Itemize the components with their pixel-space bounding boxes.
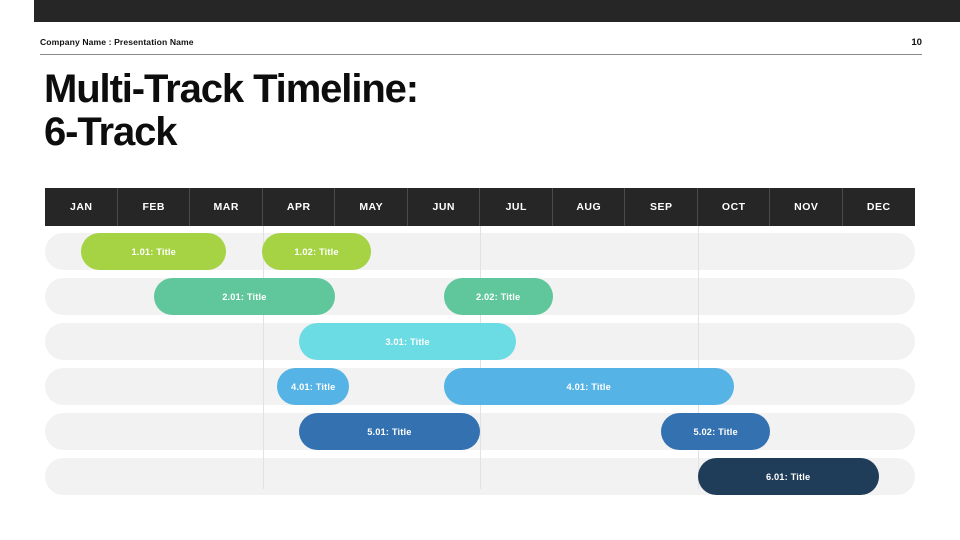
- month-cell-oct: OCT: [698, 188, 771, 226]
- month-cell-mar: MAR: [190, 188, 263, 226]
- timeline-bar-label: 1.02: Title: [294, 247, 338, 257]
- timeline-bar-label: 2.01: Title: [222, 292, 266, 302]
- timeline-bar-4-1[interactable]: 4.01: Title: [277, 368, 349, 405]
- timeline-bar-5-1[interactable]: 5.01: Title: [299, 413, 480, 450]
- timeline-bar-4-2[interactable]: 4.01: Title: [444, 368, 734, 405]
- header-company-presentation: Company Name : Presentation Name: [40, 37, 194, 47]
- month-cell-nov: NOV: [770, 188, 843, 226]
- month-cell-dec: DEC: [843, 188, 916, 226]
- month-cell-feb: FEB: [118, 188, 191, 226]
- page-title: Multi-Track Timeline: 6-Track: [44, 68, 664, 154]
- timeline-bar-label: 1.01: Title: [132, 247, 176, 257]
- month-header-row: JANFEBMARAPRMAYJUNJULAUGSEPOCTNOVDEC: [45, 188, 915, 226]
- top-accent-banner: [34, 0, 960, 22]
- track-lane-5: [45, 413, 915, 450]
- timeline-bar-label: 4.01: Title: [291, 382, 335, 392]
- timeline-bar-1-1[interactable]: 1.01: Title: [81, 233, 226, 270]
- track-row-6: 6.01: Title: [45, 458, 915, 495]
- timeline-bar-2-2[interactable]: 2.02: Title: [444, 278, 553, 315]
- track-row-4: 4.01: Title4.01: Title: [45, 368, 915, 405]
- track-row-3: 3.01: Title: [45, 323, 915, 360]
- slide-header: Company Name : Presentation Name 10: [40, 30, 922, 55]
- track-row-2: 2.01: Title2.02: Title: [45, 278, 915, 315]
- month-cell-jun: JUN: [408, 188, 481, 226]
- timeline-bar-label: 3.01: Title: [385, 337, 429, 347]
- month-cell-sep: SEP: [625, 188, 698, 226]
- timeline-bar-3-1[interactable]: 3.01: Title: [299, 323, 517, 360]
- month-cell-jan: JAN: [45, 188, 118, 226]
- timeline-bar-1-2[interactable]: 1.02: Title: [262, 233, 371, 270]
- timeline-bar-label: 5.01: Title: [367, 427, 411, 437]
- timeline-bar-label: 6.01: Title: [766, 472, 810, 482]
- track-row-1: 1.01: Title1.02: Title: [45, 233, 915, 270]
- timeline-bar-label: 2.02: Title: [476, 292, 520, 302]
- timeline-chart: JANFEBMARAPRMAYJUNJULAUGSEPOCTNOVDEC 1.0…: [45, 188, 915, 503]
- timeline-tracks: 1.01: Title1.02: Title2.01: Title2.02: T…: [45, 226, 915, 495]
- timeline-bar-2-1[interactable]: 2.01: Title: [154, 278, 335, 315]
- page-title-line-2: 6-Track: [44, 111, 664, 154]
- timeline-bar-5-2[interactable]: 5.02: Title: [661, 413, 770, 450]
- month-cell-aug: AUG: [553, 188, 626, 226]
- page-title-line-1: Multi-Track Timeline:: [44, 68, 664, 111]
- month-cell-jul: JUL: [480, 188, 553, 226]
- timeline-bar-label: 4.01: Title: [567, 382, 611, 392]
- month-cell-apr: APR: [263, 188, 336, 226]
- timeline-bar-6-1[interactable]: 6.01: Title: [698, 458, 879, 495]
- month-cell-may: MAY: [335, 188, 408, 226]
- page-number: 10: [911, 37, 922, 48]
- track-row-5: 5.01: Title5.02: Title: [45, 413, 915, 450]
- timeline-bar-label: 5.02: Title: [693, 427, 737, 437]
